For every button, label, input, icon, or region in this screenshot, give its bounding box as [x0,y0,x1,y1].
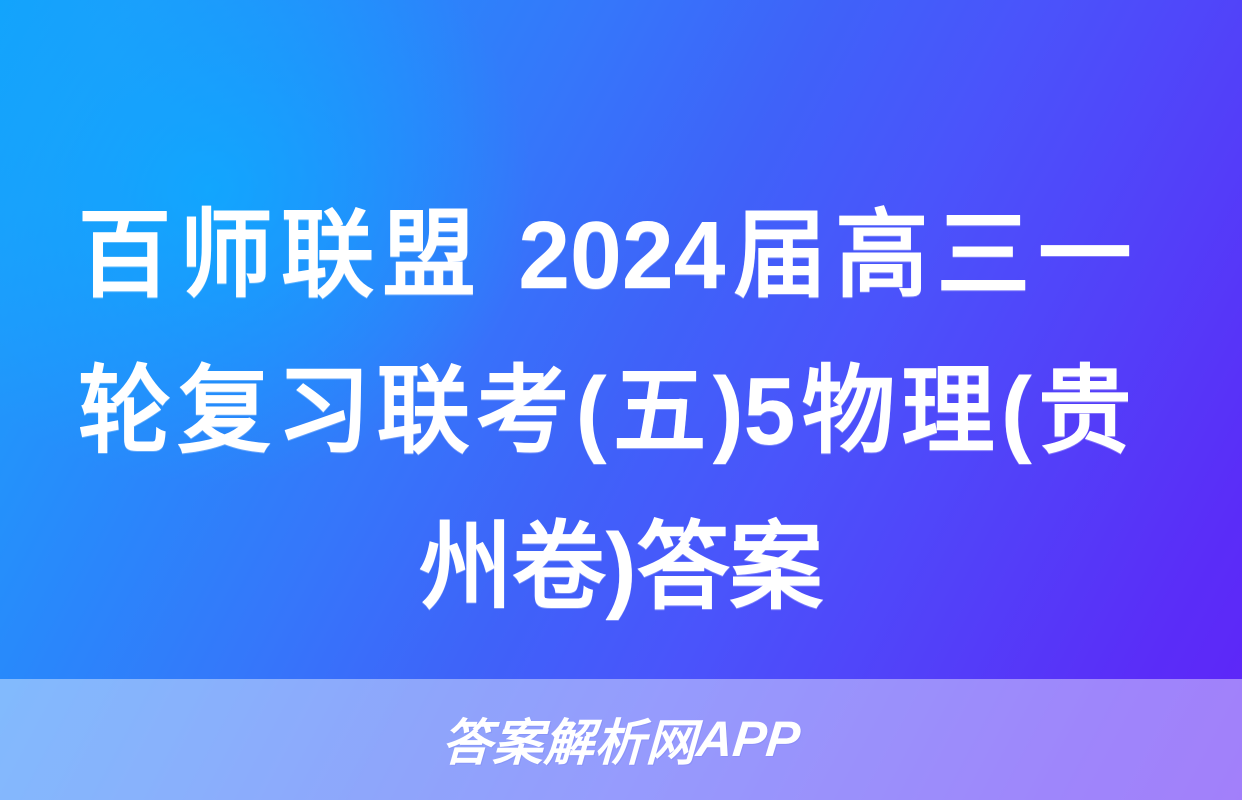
watermark-app-label: APP [694,710,803,768]
watermark-branding: 答案解析网APP [0,700,1242,778]
title-line-1: 百师联盟 2024届高三一 [78,178,1131,334]
poster-card: 百师联盟 2024届高三一 轮复习联考(五)5物理(贵 州卷)答案 答案解析网A… [0,0,1242,800]
page-title: 百师联盟 2024届高三一 轮复习联考(五)5物理(贵 州卷)答案 [78,178,1164,646]
title-line-3: 州卷)答案 [94,490,1147,646]
title-line-2: 轮复习联考(五)5物理(贵 [78,334,1131,490]
watermark-site-name: 答案解析网 [441,703,699,775]
